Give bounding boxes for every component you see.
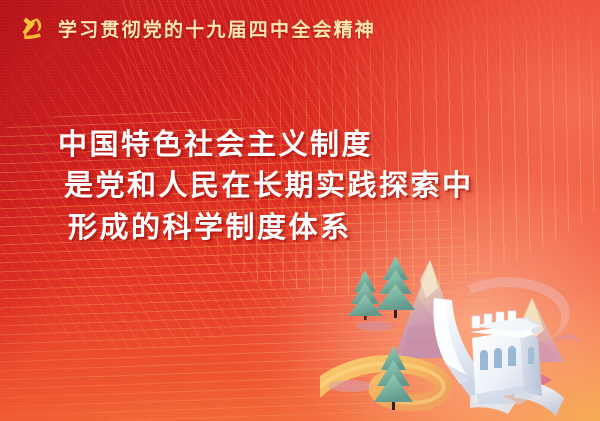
slogan-line-2: 是党和人民在长期实践探索中 [64, 171, 474, 202]
header-title: 学习贯彻党的十九届四中全会精神 [58, 15, 376, 42]
hammer-and-sickle-emblem [18, 13, 48, 43]
great-wall-watchtower [470, 311, 542, 404]
slogan-line-3: 形成的科学制度体系 [68, 213, 474, 244]
great-wall-landscape-illustration [320, 246, 600, 421]
illustration-svg [320, 246, 600, 421]
poster-canvas: 学习贯彻党的十九届四中全会精神 中国特色社会主义制度 是党和人民在长期实践探索中… [0, 0, 600, 421]
slogan-line-1: 中国特色社会主义制度 [58, 130, 474, 161]
slogan-block: 中国特色社会主义制度 是党和人民在长期实践探索中 形成的科学制度体系 [58, 130, 474, 244]
poster-header: 学习贯彻党的十九届四中全会精神 [0, 0, 376, 56]
